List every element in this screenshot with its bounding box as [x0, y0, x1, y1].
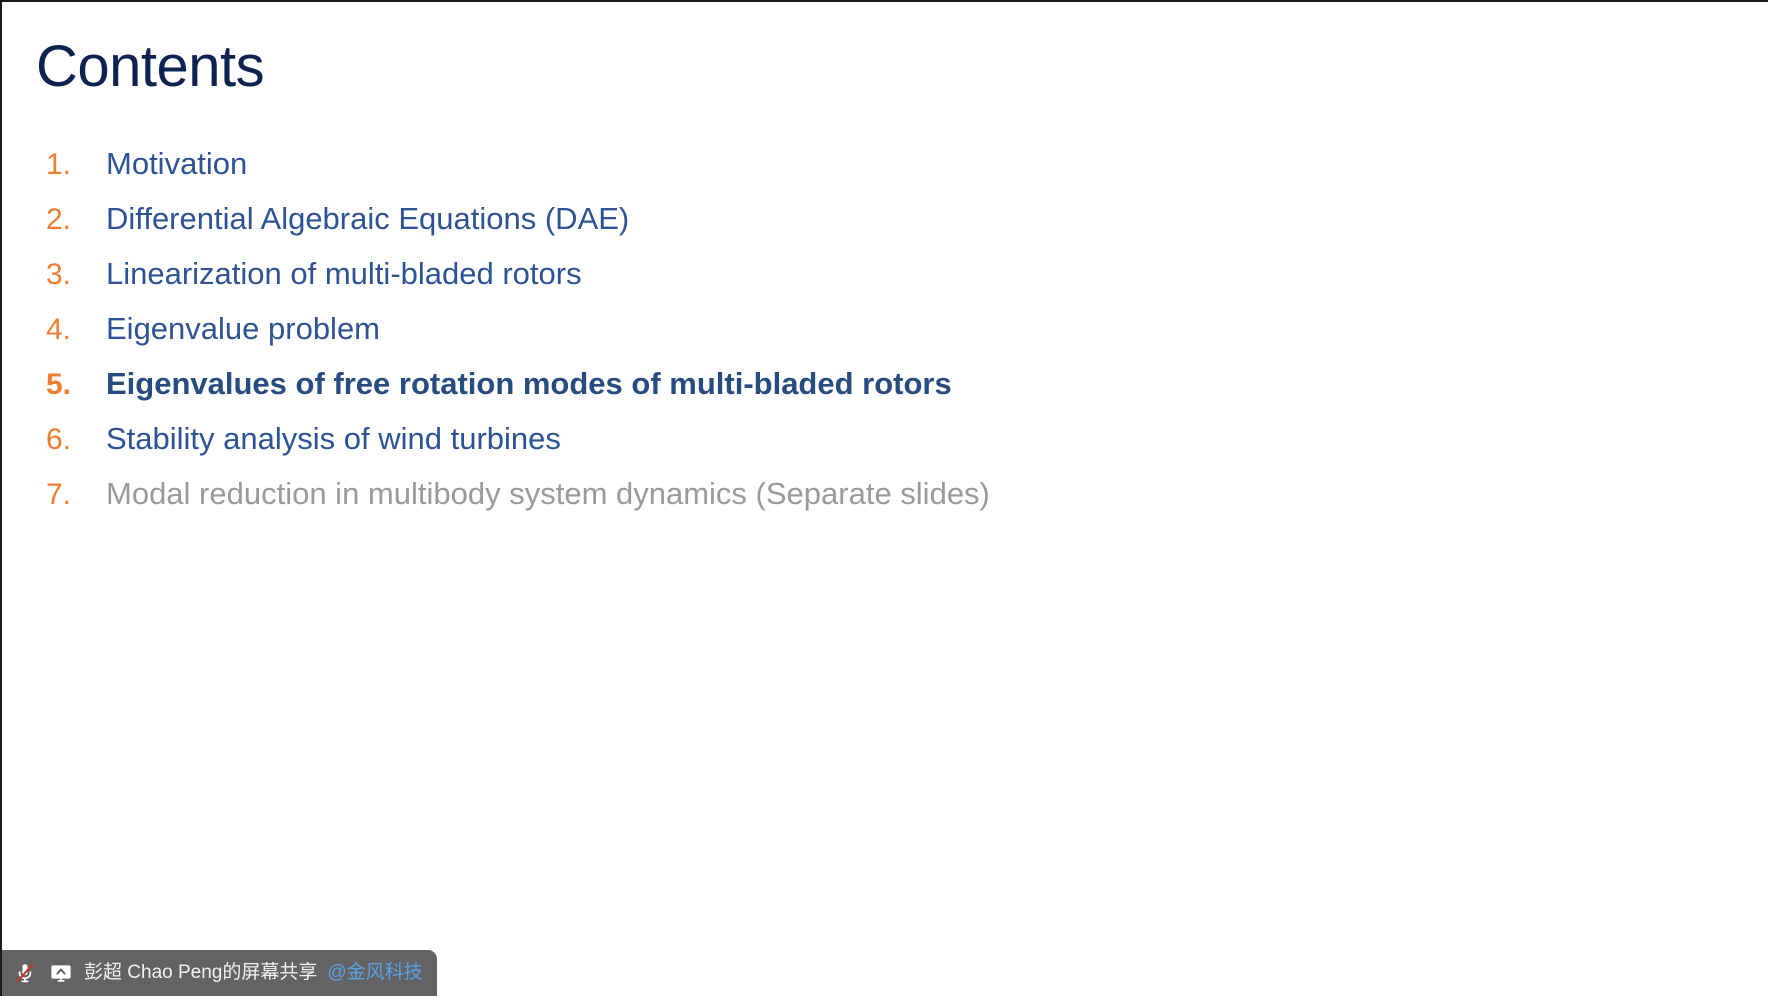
share-bar-organization: @金风科技 [327, 961, 422, 985]
microphone-muted-icon[interactable] [12, 960, 38, 986]
list-item-label: Eigenvalue problem [106, 309, 380, 349]
list-item-number: 4. [46, 310, 106, 350]
list-item-label: Eigenvalues of free rotation modes of mu… [106, 364, 952, 404]
page-title: Contents [36, 32, 264, 102]
list-item[interactable]: 4. Eigenvalue problem [46, 309, 1706, 364]
list-item-number: 2. [46, 200, 106, 240]
list-item-number: 1. [46, 145, 106, 185]
list-item-number: 5. [46, 365, 106, 405]
list-item-number: 3. [46, 255, 106, 295]
screen-share-icon[interactable] [48, 960, 74, 986]
list-item-label: Motivation [106, 144, 247, 184]
list-item-number: 6. [46, 420, 106, 460]
list-item-label: Linearization of multi-bladed rotors [106, 254, 582, 294]
list-item-disabled[interactable]: 7. Modal reduction in multibody system d… [46, 474, 1706, 529]
list-item-number: 7. [46, 475, 106, 515]
list-item-label: Stability analysis of wind turbines [106, 419, 561, 459]
list-item-active[interactable]: 5. Eigenvalues of free rotation modes of… [46, 364, 1706, 419]
list-item-label: Modal reduction in multibody system dyna… [106, 474, 990, 514]
list-item-label: Differential Algebraic Equations (DAE) [106, 199, 629, 239]
contents-list: 1. Motivation 2. Differential Algebraic … [46, 144, 1706, 529]
list-item[interactable]: 3. Linearization of multi-bladed rotors [46, 254, 1706, 309]
screen-share-status-bar[interactable]: 彭超 Chao Peng的屏幕共享 @金风科技 [2, 950, 437, 996]
list-item[interactable]: 2. Differential Algebraic Equations (DAE… [46, 199, 1706, 254]
list-item[interactable]: 6. Stability analysis of wind turbines [46, 419, 1706, 474]
list-item[interactable]: 1. Motivation [46, 144, 1706, 199]
share-bar-title: 彭超 Chao Peng的屏幕共享 [84, 961, 317, 985]
presentation-slide: Contents 1. Motivation 2. Differential A… [0, 0, 1768, 996]
